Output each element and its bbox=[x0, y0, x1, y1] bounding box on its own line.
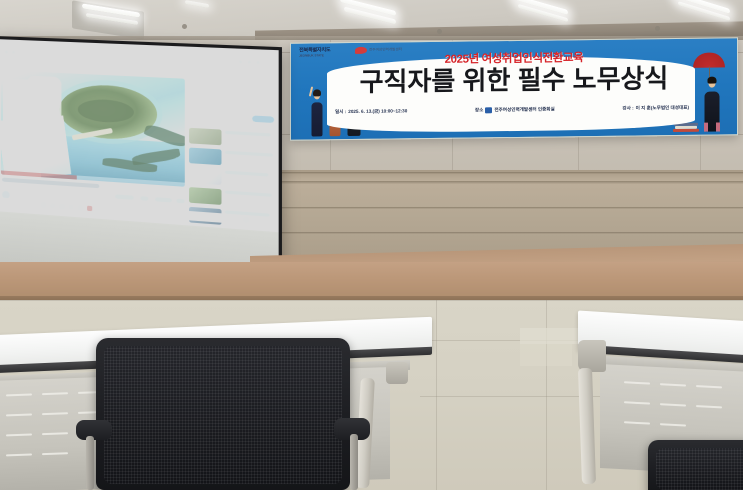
browser-menu-icon[interactable] bbox=[257, 61, 260, 64]
browser-extension-icon[interactable] bbox=[239, 60, 242, 63]
tile-patch-light bbox=[520, 328, 586, 344]
wood-slat-2 bbox=[255, 181, 743, 184]
chair-center-post-right bbox=[350, 434, 358, 490]
site-logo[interactable] bbox=[3, 60, 19, 66]
taskbar-icon-4[interactable] bbox=[69, 204, 74, 209]
taskbar-icon-5[interactable] bbox=[78, 205, 83, 210]
desk-left-bracket bbox=[386, 362, 408, 384]
sidebar-avatar[interactable] bbox=[191, 111, 201, 121]
recommendations-sidebar[interactable] bbox=[189, 79, 276, 233]
chair-center-armrest-left[interactable] bbox=[76, 420, 112, 440]
banner-date: 일시 : 2025. 6. 13.(금) 10:00~12:30 bbox=[335, 108, 407, 115]
subscribe-button[interactable] bbox=[47, 193, 63, 201]
filter-chip-1[interactable] bbox=[191, 100, 204, 107]
subscribe-chip[interactable] bbox=[252, 115, 274, 122]
center-logo-mark bbox=[485, 107, 492, 113]
lecture-room-photo: 전북특별자치도 JEONBUK STATE 전주여성인력개발센터 2025년 여… bbox=[0, 0, 743, 490]
thumbnail[interactable] bbox=[189, 167, 221, 185]
banner-speaker-label: 강사 : bbox=[622, 106, 633, 112]
like-button[interactable] bbox=[115, 194, 134, 199]
list-item-sub bbox=[225, 176, 260, 181]
thumbnail[interactable] bbox=[189, 148, 221, 166]
banner-place: 장소 전주여성인력개발센터 인증회실 bbox=[475, 107, 555, 114]
ceiling-sensor-3 bbox=[655, 26, 660, 31]
banner-speaker-value: 이 지 훈(노무법인 대성대표) bbox=[636, 105, 689, 112]
taskbar-icon-3[interactable] bbox=[59, 204, 64, 209]
tile-seam-v-1 bbox=[436, 300, 437, 490]
thumbnail[interactable] bbox=[189, 187, 221, 205]
avatar[interactable] bbox=[239, 70, 244, 75]
taskbar-clock[interactable] bbox=[243, 217, 248, 223]
search-icon[interactable] bbox=[155, 67, 160, 72]
video-glass-2 bbox=[27, 76, 61, 140]
taskbar-icon-1[interactable] bbox=[41, 202, 46, 207]
list-item[interactable] bbox=[189, 127, 276, 150]
wood-slat-4 bbox=[255, 232, 743, 234]
wood-slat-1 bbox=[255, 172, 743, 174]
dislike-button[interactable] bbox=[140, 196, 148, 201]
projection-screen bbox=[0, 36, 282, 297]
taskbar-icon-2[interactable] bbox=[50, 203, 55, 208]
desk-right-leg bbox=[578, 368, 596, 484]
thumbnail[interactable] bbox=[189, 128, 221, 145]
projection-surface bbox=[0, 39, 279, 293]
create-icon[interactable] bbox=[200, 68, 205, 73]
banner-place-label: 장소 bbox=[475, 107, 483, 113]
chair-right-mesh bbox=[656, 448, 743, 490]
event-banner: 전북특별자치도 JEONBUK STATE 전주여성인력개발센터 2025년 여… bbox=[290, 37, 738, 140]
banner-date-value: 2025. 6. 13.(금) 10:00~12:30 bbox=[348, 108, 407, 115]
browser-profile-icon[interactable] bbox=[248, 61, 251, 64]
banner-place-value: 전주여성인력개발센터 인증회실 bbox=[494, 107, 554, 114]
chair-center[interactable] bbox=[96, 338, 350, 490]
chair-center-mesh bbox=[104, 346, 342, 484]
more-button[interactable] bbox=[176, 199, 185, 204]
banner-date-label: 일시 : bbox=[335, 109, 346, 115]
sidebar-channel-name bbox=[204, 113, 226, 117]
ceiling-sensor-1 bbox=[182, 24, 187, 29]
banner-headline-main: 구직자를 위한 필수 노무상식 bbox=[291, 64, 737, 95]
filter-chip-2[interactable] bbox=[207, 101, 231, 108]
notifications-icon[interactable] bbox=[219, 69, 224, 74]
list-item-sub bbox=[225, 136, 258, 141]
tile-patch-light-2 bbox=[520, 344, 572, 366]
ceiling-sensor-2 bbox=[437, 29, 442, 34]
chair-center-post-left bbox=[86, 436, 94, 490]
banner-speaker: 강사 : 이 지 훈(노무법인 대성대표) bbox=[622, 105, 689, 112]
list-item-sub bbox=[225, 156, 253, 161]
tile-seam-h-1 bbox=[0, 300, 743, 301]
taskbar-icon-6[interactable] bbox=[87, 206, 92, 211]
sidebar-channel-meta bbox=[204, 118, 219, 122]
browser-back-icon[interactable] bbox=[5, 50, 8, 53]
video-player[interactable] bbox=[1, 70, 185, 186]
chair-right[interactable] bbox=[648, 440, 743, 490]
projected-browser-window bbox=[0, 39, 279, 234]
browser-forward-icon[interactable] bbox=[12, 51, 15, 54]
list-item-sub bbox=[225, 196, 251, 201]
share-button[interactable] bbox=[155, 197, 172, 202]
wood-slat-3 bbox=[255, 207, 743, 209]
